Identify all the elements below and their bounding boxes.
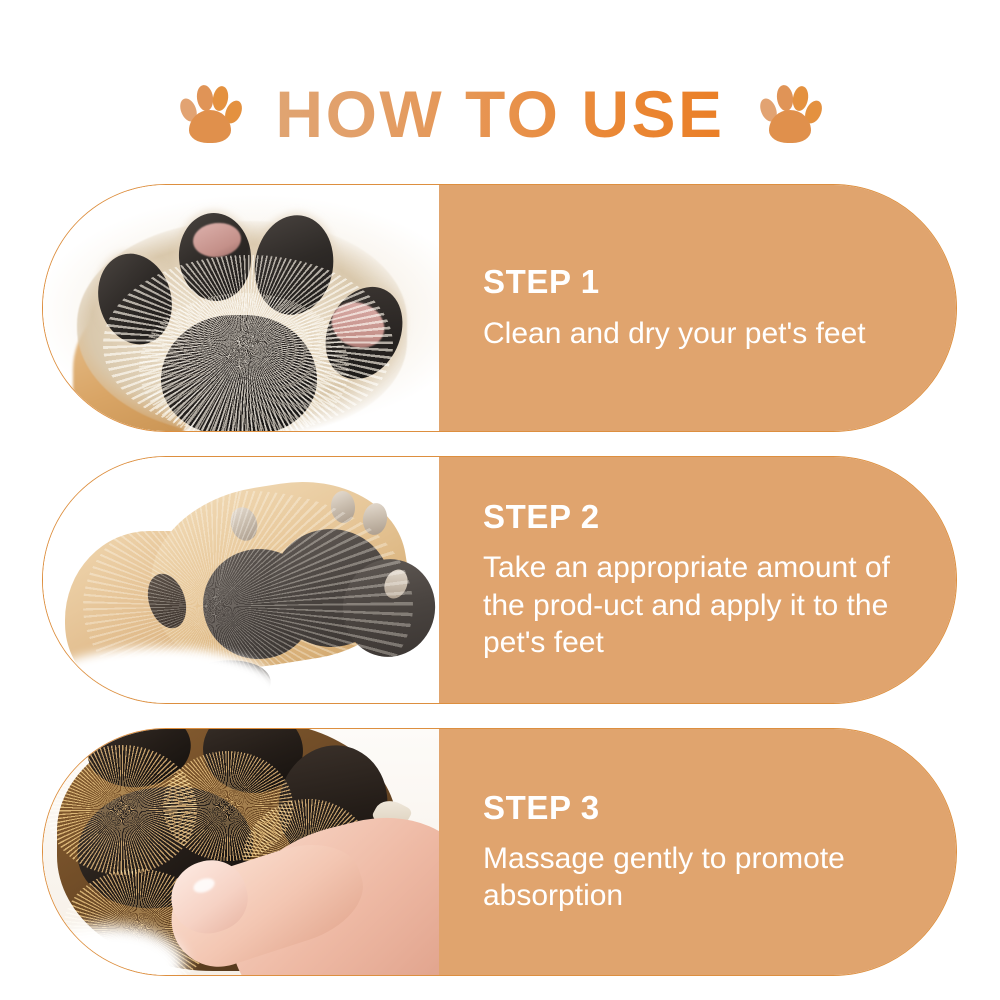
step-card: STEP 1 Clean and dry your pet's feet [42, 184, 957, 432]
paw-hair-texture [139, 293, 349, 431]
step-photo-1 [43, 185, 439, 431]
step-title: STEP 1 [483, 264, 922, 300]
step-text-panel: STEP 1 Clean and dry your pet's feet [439, 185, 956, 431]
paw-print-icon [179, 81, 241, 147]
page-title: HOW TO USE [275, 81, 724, 147]
page-title-row: HOW TO USE [0, 66, 1000, 162]
step-card: STEP 2 Take an appropriate amount of the… [42, 456, 957, 704]
step-description: Take an appropriate amount of the prod-u… [483, 549, 922, 661]
how-to-use-infographic: HOW TO USE STEP 1 Clean and dry y [0, 0, 1000, 1000]
step-photo-3 [43, 729, 439, 975]
step-card: STEP 3 Massage gently to promote absorpt… [42, 728, 957, 976]
paw-pad [769, 110, 811, 143]
paw-toe [775, 84, 794, 112]
step-description: Clean and dry your pet's feet [483, 315, 922, 352]
step-text-panel: STEP 2 Take an appropriate amount of the… [439, 457, 956, 703]
step-description: Massage gently to promote absorption [483, 840, 922, 914]
paw-print-icon [759, 81, 821, 147]
step-text-panel: STEP 3 Massage gently to promote absorpt… [439, 729, 956, 975]
step-title: STEP 3 [483, 790, 922, 826]
step-photo-2 [43, 457, 439, 703]
step-title: STEP 2 [483, 499, 922, 535]
